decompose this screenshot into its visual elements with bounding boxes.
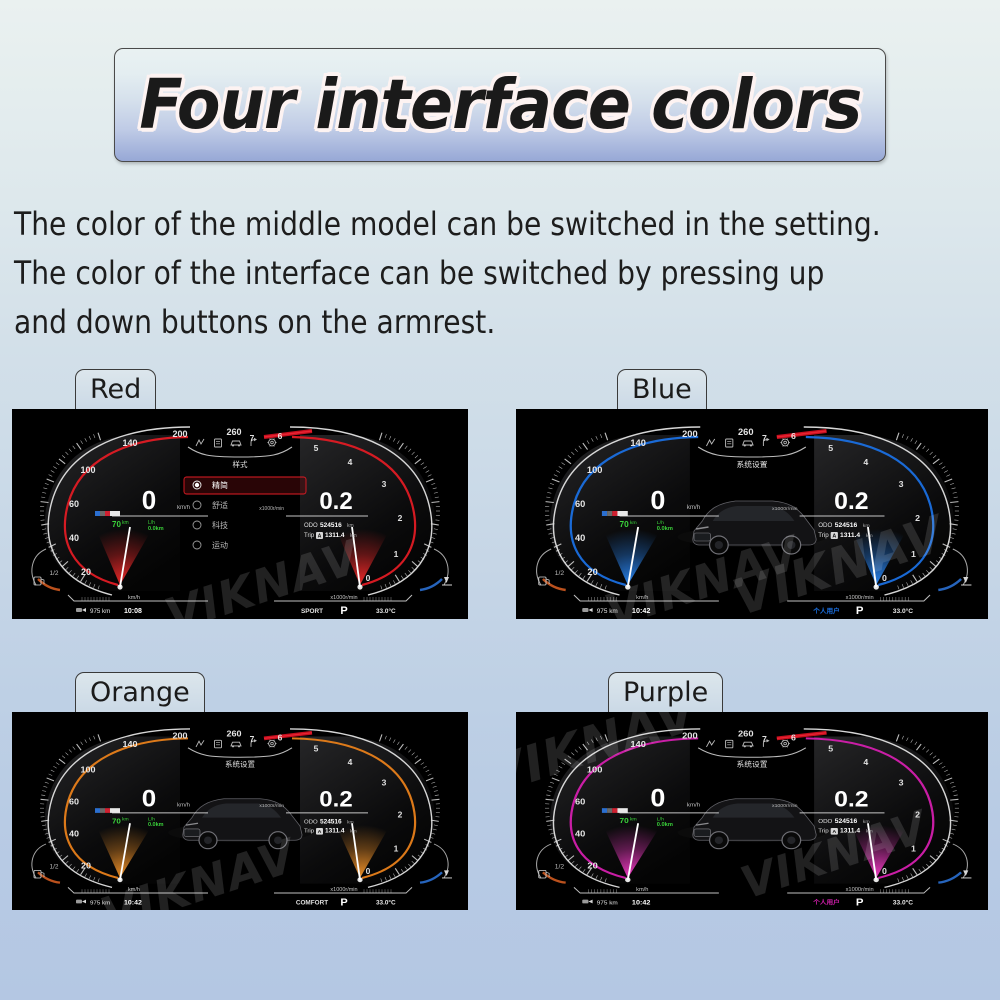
description-line-2: The color of the interface can be switch… xyxy=(14,249,881,347)
page-title: Four interface colors xyxy=(139,65,861,145)
tach-tick-6: 6 xyxy=(791,431,796,441)
tach-tick-5: 5 xyxy=(828,443,833,453)
speed-tick-260: 260 xyxy=(738,729,754,739)
trip-label: Trip xyxy=(818,829,829,835)
speed-tick-200: 200 xyxy=(682,429,698,439)
panel-purple: Purple 20406010014020026011/2765432100km… xyxy=(516,712,988,910)
tach-tick-3: 3 xyxy=(899,778,904,788)
speed-unit: km/h xyxy=(687,802,700,808)
tach-tick-1: 1 xyxy=(911,549,916,559)
radio-selected-icon xyxy=(195,483,199,487)
trip-label: Trip xyxy=(304,533,315,539)
outside-temperature: 33.0°C xyxy=(376,899,396,906)
header-title: 系统设置 xyxy=(225,760,255,769)
speed-value: 0 xyxy=(142,485,156,515)
speed-tick-260: 260 xyxy=(226,427,241,437)
speed-tick-260: 260 xyxy=(738,427,754,437)
cluster-display-purple[interactable]: 20406010014020026011/2765432100km/h70kmL… xyxy=(516,712,988,910)
range-value: 975 km xyxy=(90,900,110,906)
tach-tick-0: 0 xyxy=(882,573,887,583)
speed-tick-100: 100 xyxy=(587,765,603,775)
eco-range-unit: km xyxy=(122,520,129,526)
tach-tick-4: 4 xyxy=(348,758,353,767)
drive-mode-label: 个人用户 xyxy=(812,898,840,907)
trip-unit: km xyxy=(866,829,873,835)
tach-value: 0.2 xyxy=(834,786,869,812)
speed-tick-260: 260 xyxy=(226,729,241,739)
tach-tick-5: 5 xyxy=(314,443,319,453)
trip-unit: km xyxy=(350,829,357,835)
tach-tick-2: 2 xyxy=(915,513,920,523)
speed-tick-200: 200 xyxy=(172,429,187,439)
trip-unit: km xyxy=(350,533,357,539)
tach-tick-7: 7 xyxy=(762,735,767,745)
drive-mode-label: 个人用户 xyxy=(812,606,839,615)
speed-tick-140: 140 xyxy=(630,739,646,749)
eco-range-value: 70 xyxy=(620,817,630,826)
color-label-purple: Purple xyxy=(608,672,723,712)
eco-consumption-value: 0.0km xyxy=(657,526,673,532)
outside-temperature: 33.0°C xyxy=(893,607,914,615)
speed-tick-200: 200 xyxy=(172,731,187,741)
description-block: The color of the middle model can be swi… xyxy=(14,200,881,347)
tach-tick-2: 2 xyxy=(915,810,920,820)
gear-indicator: P xyxy=(856,897,864,908)
description-line-1: The color of the middle model can be swi… xyxy=(14,200,881,249)
tach-tick-1: 1 xyxy=(911,844,916,854)
trip-badge: A xyxy=(832,534,836,540)
tach-tick-6: 6 xyxy=(791,733,796,743)
gear-indicator: P xyxy=(856,605,864,617)
gear-indicator: P xyxy=(340,897,347,909)
range-value: 975 km xyxy=(90,608,110,615)
tach-tick-2: 2 xyxy=(398,811,403,820)
tach-bottom-label: x1000r/min xyxy=(330,595,357,601)
tach-tick-6: 6 xyxy=(278,431,283,441)
odo-value: 524516 xyxy=(320,818,342,825)
trip-badge: A xyxy=(318,534,322,540)
tach-tick-0: 0 xyxy=(882,867,887,877)
speed-value: 0 xyxy=(650,785,665,812)
odo-label: ODO xyxy=(818,819,833,825)
tach-value: 0.2 xyxy=(319,786,352,811)
tach-scale-label: x1000r/min xyxy=(772,803,798,809)
speed-tick-60: 60 xyxy=(69,797,79,807)
speed-tick-20: 20 xyxy=(81,861,91,871)
speed-unit: km/h xyxy=(687,504,700,511)
tach-bottom-label: x1000r/min xyxy=(846,887,874,893)
cluster-svg: 20406010014020026011/2765432100km/h70kmL… xyxy=(12,712,468,910)
clock-time: 10:08 xyxy=(124,608,142,615)
speed-tick-140: 140 xyxy=(122,739,137,749)
tach-tick-3: 3 xyxy=(382,779,387,788)
speed-tick-100: 100 xyxy=(80,765,95,775)
tach-tick-4: 4 xyxy=(863,457,868,467)
range-value: 975 km xyxy=(597,900,618,907)
panel-red: Red 20406010014020026011/2765432100km/h7… xyxy=(12,409,468,619)
speed-bottom-unit: km/h xyxy=(128,887,140,893)
odo-unit: km xyxy=(863,819,870,825)
clock-time: 10:42 xyxy=(124,899,142,906)
menu-option-label: 精简 xyxy=(212,480,228,490)
drive-mode-label: COMFORT xyxy=(296,899,328,906)
eco-range-value: 70 xyxy=(112,520,121,529)
odo-value: 524516 xyxy=(320,522,342,529)
fuel-label-half: 1/2 xyxy=(555,570,565,577)
range-value: 975 km xyxy=(597,608,618,615)
menu-option-label: 运动 xyxy=(212,540,228,550)
clock-time: 10:42 xyxy=(632,607,651,615)
speed-value: 0 xyxy=(142,785,156,812)
speed-unit: km/h xyxy=(177,505,190,511)
cluster-svg: 20406010014020026011/2765432100km/h70kmL… xyxy=(12,409,468,619)
fuel-label-full: 1 xyxy=(50,546,54,553)
trip-badge: A xyxy=(318,829,322,835)
odo-value: 524516 xyxy=(835,818,858,825)
eco-range-value: 70 xyxy=(620,520,630,529)
tach-tick-0: 0 xyxy=(366,867,371,876)
clock-time: 10:42 xyxy=(632,900,651,907)
trip-value: 1311.4 xyxy=(325,532,345,539)
trip-label: Trip xyxy=(818,532,829,539)
tach-tick-4: 4 xyxy=(863,757,868,767)
color-label-orange: Orange xyxy=(75,672,205,712)
trip-label: Trip xyxy=(304,829,314,835)
speed-unit: km/h xyxy=(177,802,190,808)
panel-orange: Orange 20406010014020026011/2765432100km… xyxy=(12,712,468,910)
eco-range-unit: km xyxy=(630,817,637,823)
speed-tick-60: 60 xyxy=(69,499,79,509)
tach-tick-5: 5 xyxy=(314,745,319,754)
speed-tick-20: 20 xyxy=(587,861,597,871)
eco-range-unit: km xyxy=(630,520,637,526)
tach-bottom-label: x1000r/min xyxy=(846,595,874,601)
trip-value: 1311.4 xyxy=(325,828,345,835)
odo-unit: km xyxy=(347,523,354,529)
gear-indicator: P xyxy=(340,605,347,617)
tach-tick-5: 5 xyxy=(828,744,833,754)
tach-tick-6: 6 xyxy=(278,733,283,742)
speed-tick-20: 20 xyxy=(587,567,597,577)
header-title: 系统设置 xyxy=(736,459,767,469)
speed-tick-60: 60 xyxy=(575,797,585,807)
tach-tick-3: 3 xyxy=(382,479,387,489)
speed-value: 0 xyxy=(650,485,665,514)
header-title: 样式 xyxy=(233,459,248,469)
menu-option-label: 科技 xyxy=(212,520,228,530)
eco-range-value: 70 xyxy=(112,816,121,825)
tach-scale-label: x1000r/min xyxy=(259,803,284,809)
speed-tick-60: 60 xyxy=(575,499,585,509)
trip-value: 1311.4 xyxy=(840,828,861,835)
drive-mode-label: SPORT xyxy=(301,608,323,615)
speed-tick-40: 40 xyxy=(69,829,79,839)
menu-option-label: 舒适 xyxy=(212,500,228,510)
speed-tick-40: 40 xyxy=(575,829,585,839)
odo-label: ODO xyxy=(304,819,318,825)
cluster-display-red[interactable]: 20406010014020026011/2765432100km/h70kmL… xyxy=(12,409,468,619)
cluster-svg: 20406010014020026011/2765432100km/h70kmL… xyxy=(516,712,988,910)
fuel-label-full: 1 xyxy=(556,546,560,553)
tach-tick-7: 7 xyxy=(250,433,255,443)
speed-bottom-unit: km/h xyxy=(128,595,140,601)
fuel-label-half: 1/2 xyxy=(555,864,565,871)
odo-unit: km xyxy=(347,819,354,825)
eco-consumption-value: 0.0km xyxy=(148,822,164,828)
cluster-display-orange[interactable]: 20406010014020026011/2765432100km/h70kmL… xyxy=(12,712,468,910)
tach-tick-0: 0 xyxy=(366,573,371,583)
tach-value: 0.2 xyxy=(834,488,869,515)
tach-tick-3: 3 xyxy=(899,479,904,489)
odo-value: 524516 xyxy=(835,522,858,529)
color-label-blue: Blue xyxy=(617,369,707,409)
speed-tick-100: 100 xyxy=(587,465,603,475)
speed-tick-200: 200 xyxy=(682,731,698,741)
fuel-label-half: 1/2 xyxy=(49,864,59,871)
eco-range-unit: km xyxy=(122,817,129,823)
fuel-label-full: 1 xyxy=(556,841,560,848)
trip-unit: km xyxy=(866,533,873,539)
tach-tick-1: 1 xyxy=(394,845,399,854)
menu-option-highlight xyxy=(184,477,306,494)
color-label-red: Red xyxy=(75,369,156,409)
speed-tick-40: 40 xyxy=(575,533,585,543)
trip-badge: A xyxy=(832,829,836,835)
eco-consumption-value: 0.0km xyxy=(657,822,673,828)
tach-tick-2: 2 xyxy=(398,513,403,523)
eco-consumption-value: 0.0km xyxy=(148,526,164,532)
tach-tick-7: 7 xyxy=(762,433,767,443)
tach-tick-1: 1 xyxy=(394,549,399,559)
speed-tick-100: 100 xyxy=(80,465,95,475)
cluster-svg: 20406010014020026011/2765432100km/h70kmL… xyxy=(516,409,988,619)
panel-blue: Blue 20406010014020026011/2765432100km/h… xyxy=(516,409,988,619)
odo-unit: km xyxy=(863,523,870,529)
title-banner: Four interface colors xyxy=(114,48,886,162)
outside-temperature: 33.0°C xyxy=(376,607,396,615)
odo-label: ODO xyxy=(304,523,318,529)
tach-tick-4: 4 xyxy=(348,457,353,467)
speed-tick-20: 20 xyxy=(81,567,91,577)
speed-tick-140: 140 xyxy=(122,438,137,448)
header-title: 系统设置 xyxy=(737,759,768,769)
fuel-label-full: 1 xyxy=(50,841,54,848)
speed-tick-140: 140 xyxy=(630,438,646,448)
odo-label: ODO xyxy=(818,522,832,529)
trip-value: 1311.4 xyxy=(840,532,861,539)
tach-scale-label: x1000r/min xyxy=(772,506,798,512)
tach-scale-label: x1000r/min xyxy=(259,506,284,512)
fuel-label-half: 1/2 xyxy=(49,570,58,577)
menu-option-row[interactable]: 精简 xyxy=(184,477,306,494)
tach-value: 0.2 xyxy=(319,488,352,515)
speed-tick-40: 40 xyxy=(69,533,79,543)
tach-bottom-label: x1000r/min xyxy=(330,887,357,893)
cluster-display-blue[interactable]: 20406010014020026011/2765432100km/h70kmL… xyxy=(516,409,988,619)
speed-bottom-unit: km/h xyxy=(636,595,648,601)
outside-temperature: 33.0°C xyxy=(893,899,914,907)
speed-bottom-unit: km/h xyxy=(636,887,648,893)
